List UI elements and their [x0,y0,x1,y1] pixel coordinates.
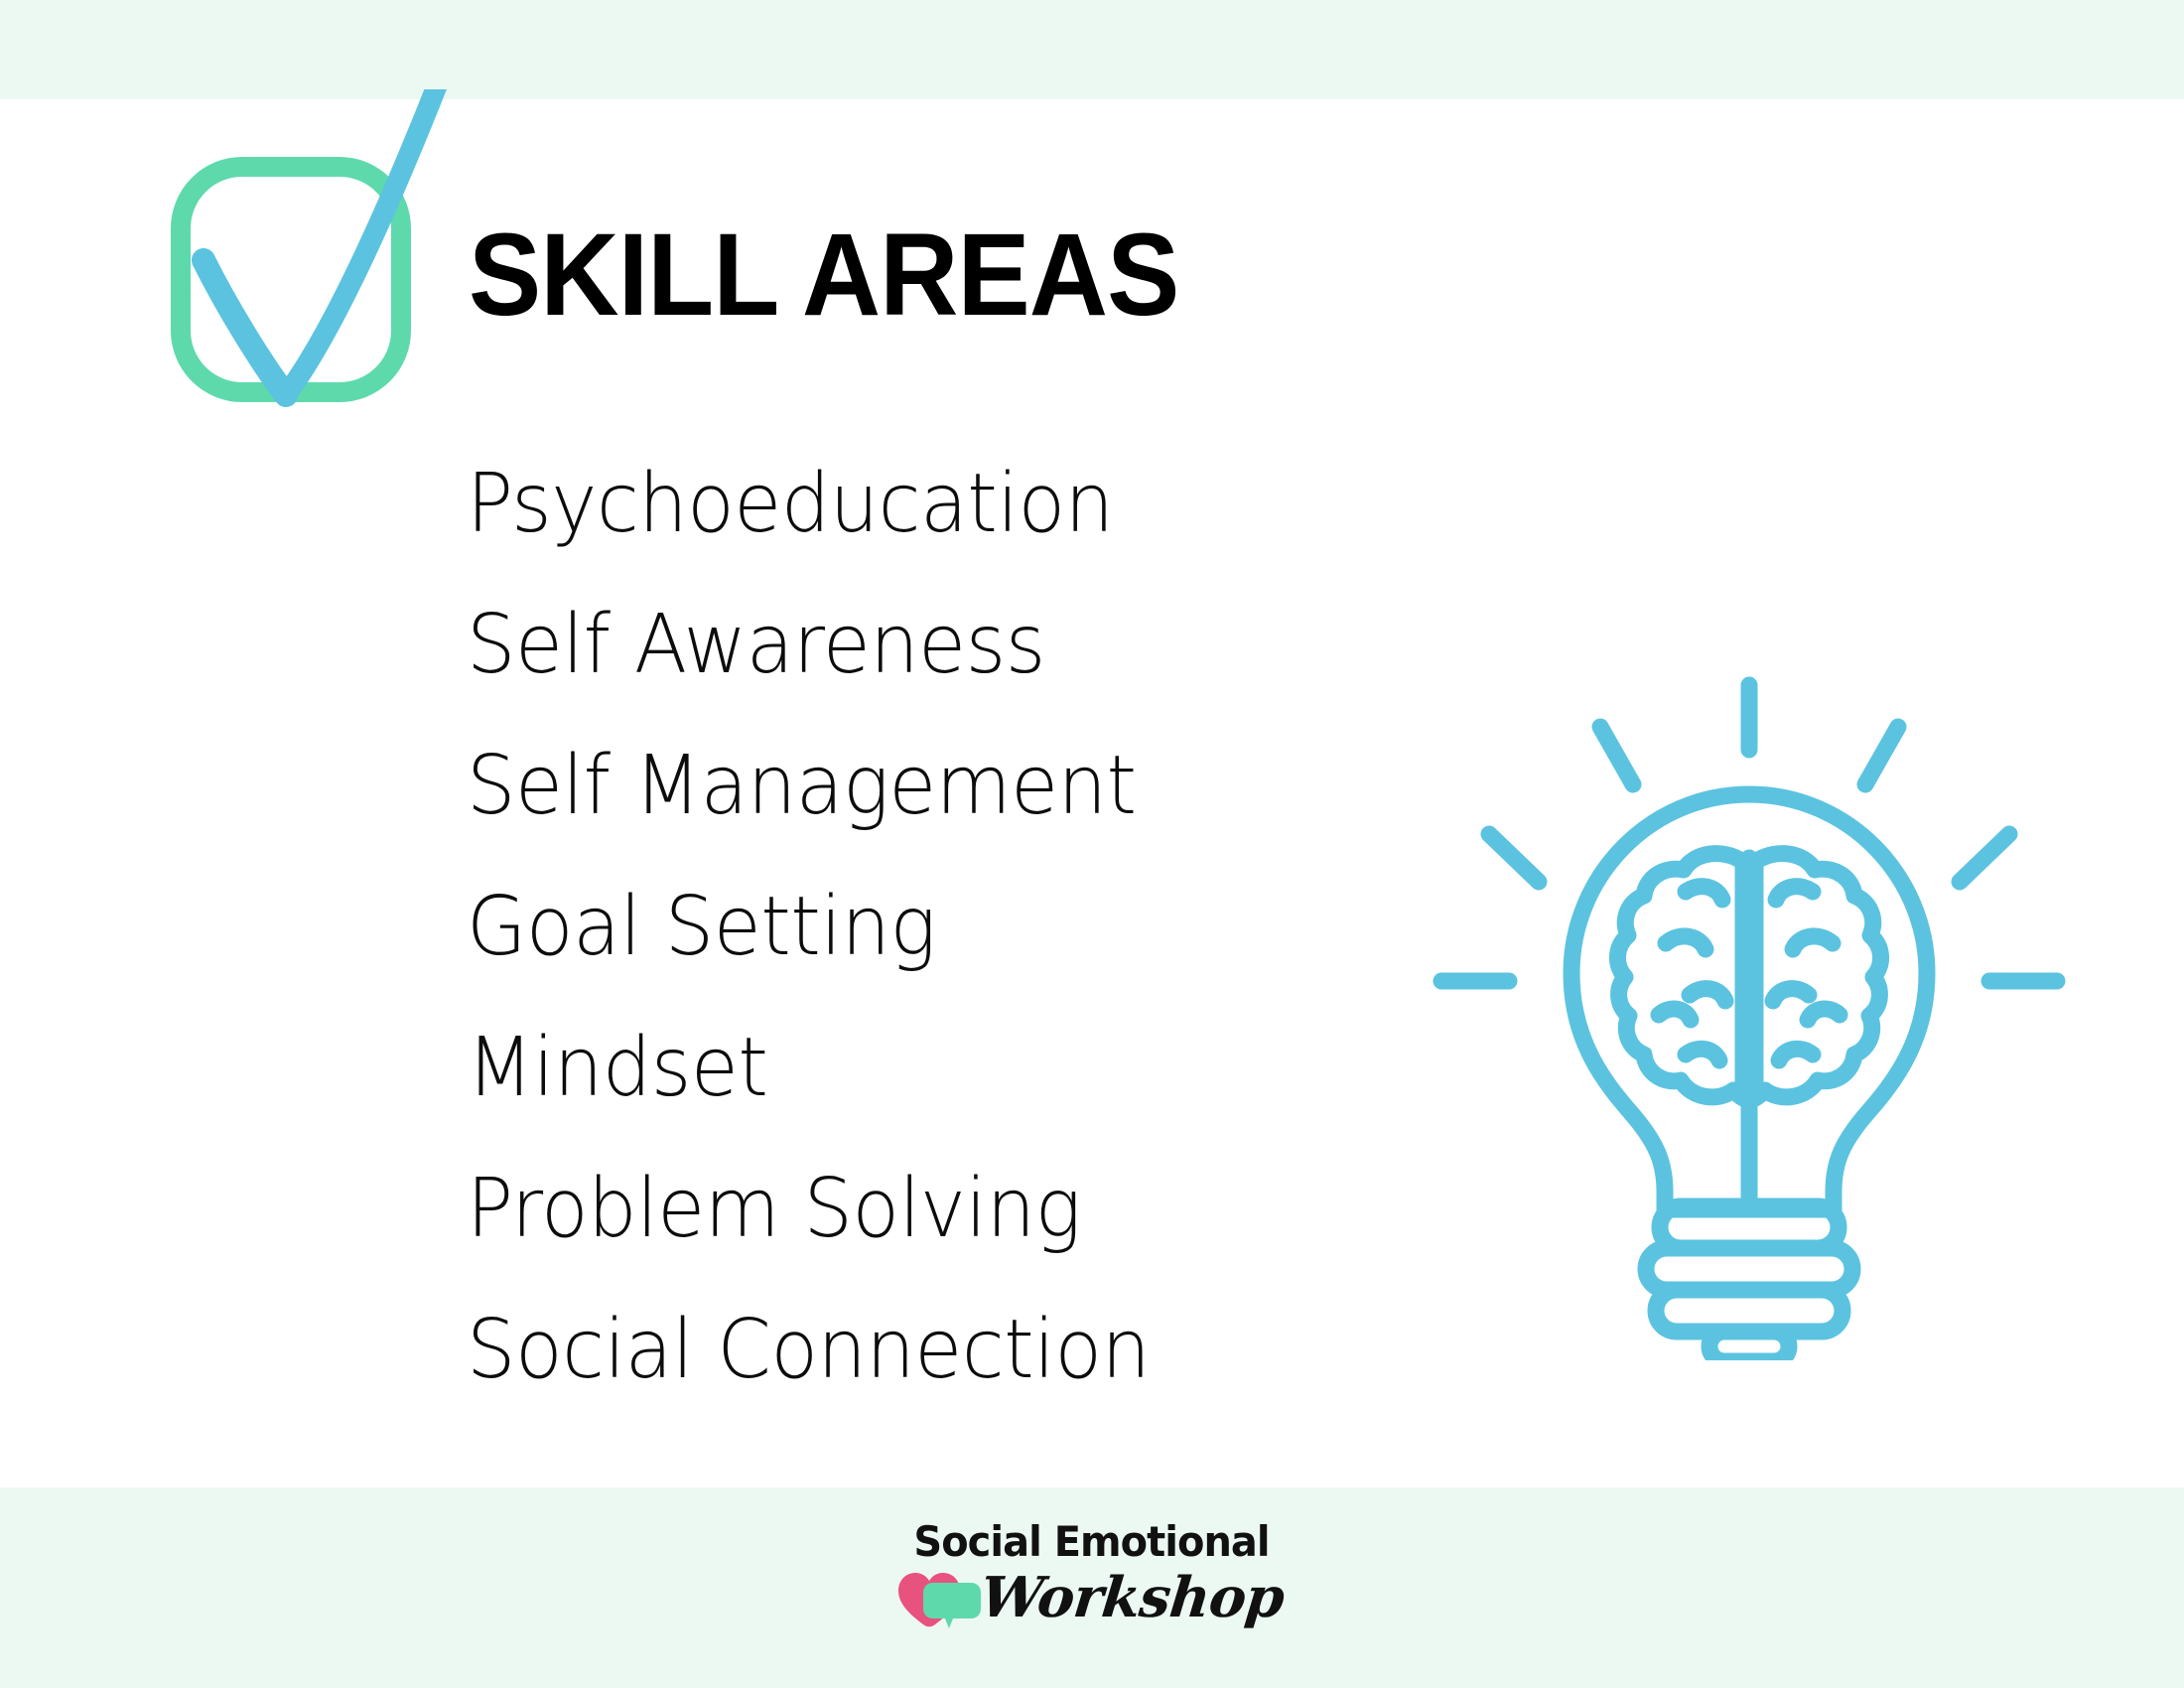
list-item: Self Management [467,716,1410,857]
bulb-contact-tip [1709,1332,1789,1360]
top-accent-band [0,0,2184,99]
skill-areas-list: Psychoeducation Self Awareness Self Mana… [467,434,1459,1421]
logo-primary-text: Social Emotional [914,1519,1270,1565]
header: SKILL AREAS [159,89,1350,407]
list-item: Mindset [467,998,1410,1139]
logo-second-row: Workshop [897,1567,1284,1628]
list-item: Self Awareness [467,575,1410,716]
list-item: Goal Setting [467,857,1410,998]
list-item: Psychoeducation [467,434,1410,575]
brain-folds-right [1773,887,1840,1060]
heart-and-speech-bubble-icon [897,1567,983,1628]
list-item: Social Connection [467,1280,1410,1421]
lightbulb-brain-icon [1420,645,2075,1360]
slide-canvas: SKILL AREAS Psychoeducation Self Awarene… [0,0,2184,1688]
brain-folds-left [1659,887,1725,1060]
footer-logo: Social Emotional Workshop [0,1519,2184,1668]
logo-script-text: Workshop [978,1569,1287,1626]
bulb-screw-base [1646,1206,1852,1360]
list-item: Problem Solving [467,1139,1410,1280]
checkbox-check-icon [159,89,496,407]
page-title: SKILL AREAS [469,216,1178,334]
